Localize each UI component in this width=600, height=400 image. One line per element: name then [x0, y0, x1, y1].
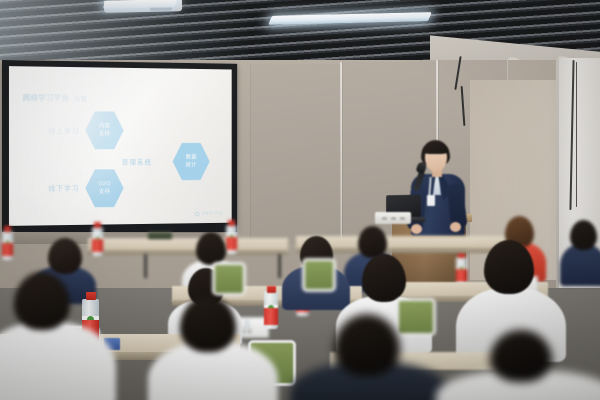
audience-head [180, 296, 236, 352]
audience-head [362, 254, 406, 302]
hanging-cable [576, 62, 577, 207]
watermark-text: 在线学习平台 [202, 211, 223, 216]
slide-label-management: 管理系统 [122, 158, 152, 168]
hexagon-line-2: 支持 [99, 188, 110, 196]
audience-head [14, 272, 70, 330]
audience-torso [0, 322, 116, 400]
slide-hexagon-o2o: O2O 支持 [85, 169, 123, 209]
bottle-cap [228, 220, 235, 226]
audience-head [490, 330, 552, 382]
slide-label-offline: 线下学习 [48, 183, 79, 193]
hexagon-line-2: 统计 [186, 161, 197, 169]
projection-screen-frame: 网络学习平台· 功能 线上学习 线下学习 管理系统 内容 支持 O2O 支持 数… [2, 60, 237, 236]
presenter-hand-left [411, 224, 422, 234]
slide-title-sub: · 功能 [69, 96, 87, 103]
slide-title-main: 网络学习平台 [23, 93, 69, 102]
audience-head [48, 238, 82, 274]
audience-member [436, 330, 600, 400]
slide-watermark: 在线学习平台 [195, 211, 222, 216]
hexagon-line-2: 支持 [99, 130, 110, 138]
audience-member [560, 220, 600, 282]
slide-hexagon-data: 数据 统计 [173, 142, 210, 181]
water-bottle [2, 226, 13, 260]
wall-panel [250, 64, 342, 244]
slide-label-online: 线上学习 [48, 126, 79, 136]
receiver-led-icon [400, 217, 405, 220]
microphone-receiver-unit [375, 212, 411, 224]
presentation-room-scene: 网络学习平台· 功能 线上学习 线下学习 管理系统 内容 支持 O2O 支持 数… [0, 0, 600, 400]
hexagon-line-1: O2O [98, 180, 110, 188]
receiver-led-icon [382, 217, 387, 220]
audience-head [484, 240, 534, 294]
presenter-badge [427, 195, 435, 206]
chair [212, 262, 246, 296]
slide-title: 网络学习平台· 功能 [23, 92, 87, 103]
wall-panel-seam [340, 62, 342, 244]
bottle-cap [94, 222, 101, 228]
receiver-led-icon [391, 217, 396, 220]
audience-head [334, 314, 400, 376]
audience-torso [560, 244, 600, 286]
bottle-cap [267, 286, 276, 293]
audience-head [570, 220, 597, 250]
hexagon-line-1: 内容 [99, 122, 110, 130]
audience-member [0, 272, 116, 400]
bottle-label [2, 243, 13, 256]
presenter-hair-fringe [422, 142, 449, 154]
desk-leg [144, 254, 147, 278]
chair [302, 258, 336, 292]
hexagon-line-1: 数据 [186, 153, 197, 161]
audience-member [290, 314, 450, 400]
notebook [148, 232, 172, 239]
desk-leg [278, 254, 281, 278]
watermark-logo-icon [195, 212, 200, 217]
slide-hexagon-content: 内容 支持 [85, 111, 123, 150]
audience-member [148, 296, 278, 400]
bottle-cap [4, 226, 11, 232]
audience-head [196, 232, 226, 265]
presenter-hand-right [450, 222, 461, 232]
ceiling-light-fixture-secondary [103, 0, 177, 9]
projection-screen-surface: 网络学习平台· 功能 线上学习 线下学习 管理系统 内容 支持 O2O 支持 数… [9, 66, 232, 226]
